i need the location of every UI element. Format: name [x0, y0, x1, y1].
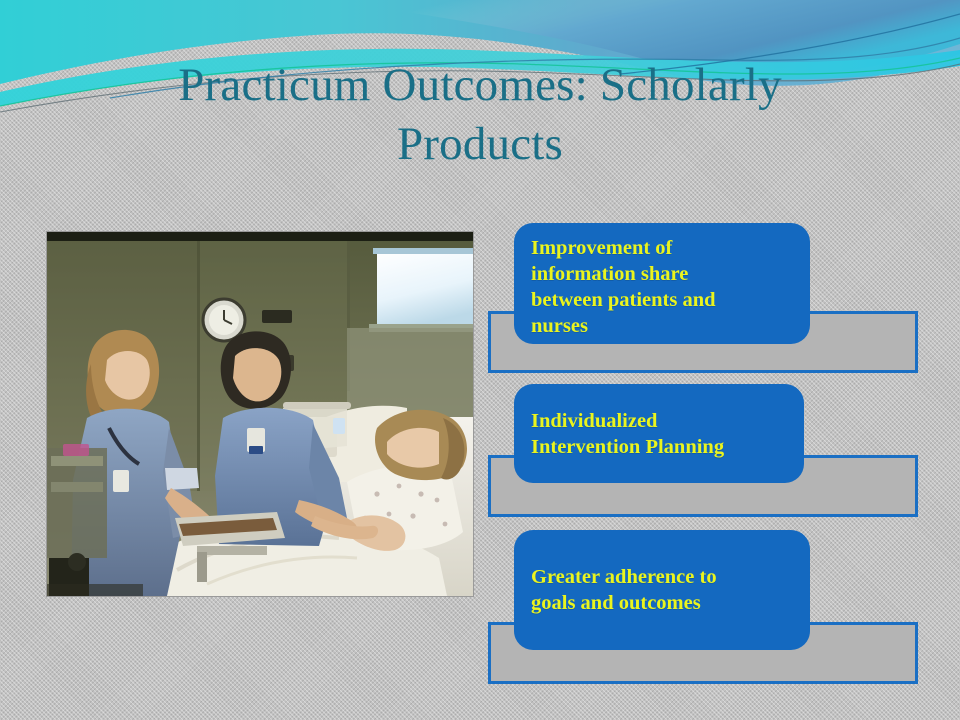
hospital-room-photo: [47, 232, 473, 596]
photo-frame: [47, 232, 473, 596]
callout-text-2: Individualized Intervention Planning: [531, 408, 724, 460]
presentation-slide: Practicum Outcomes: Scholarly Products: [0, 0, 960, 720]
slide-title: Practicum Outcomes: Scholarly Products: [40, 56, 920, 174]
callout-bubble-1[interactable]: Improvement of information share between…: [514, 223, 810, 344]
callout-text-3: Greater adherence to goals and outcomes: [531, 564, 717, 616]
callout-bubble-3[interactable]: Greater adherence to goals and outcomes: [514, 530, 810, 650]
callout-text-1: Improvement of information share between…: [531, 235, 716, 339]
callout-bubble-2[interactable]: Individualized Intervention Planning: [514, 384, 804, 483]
